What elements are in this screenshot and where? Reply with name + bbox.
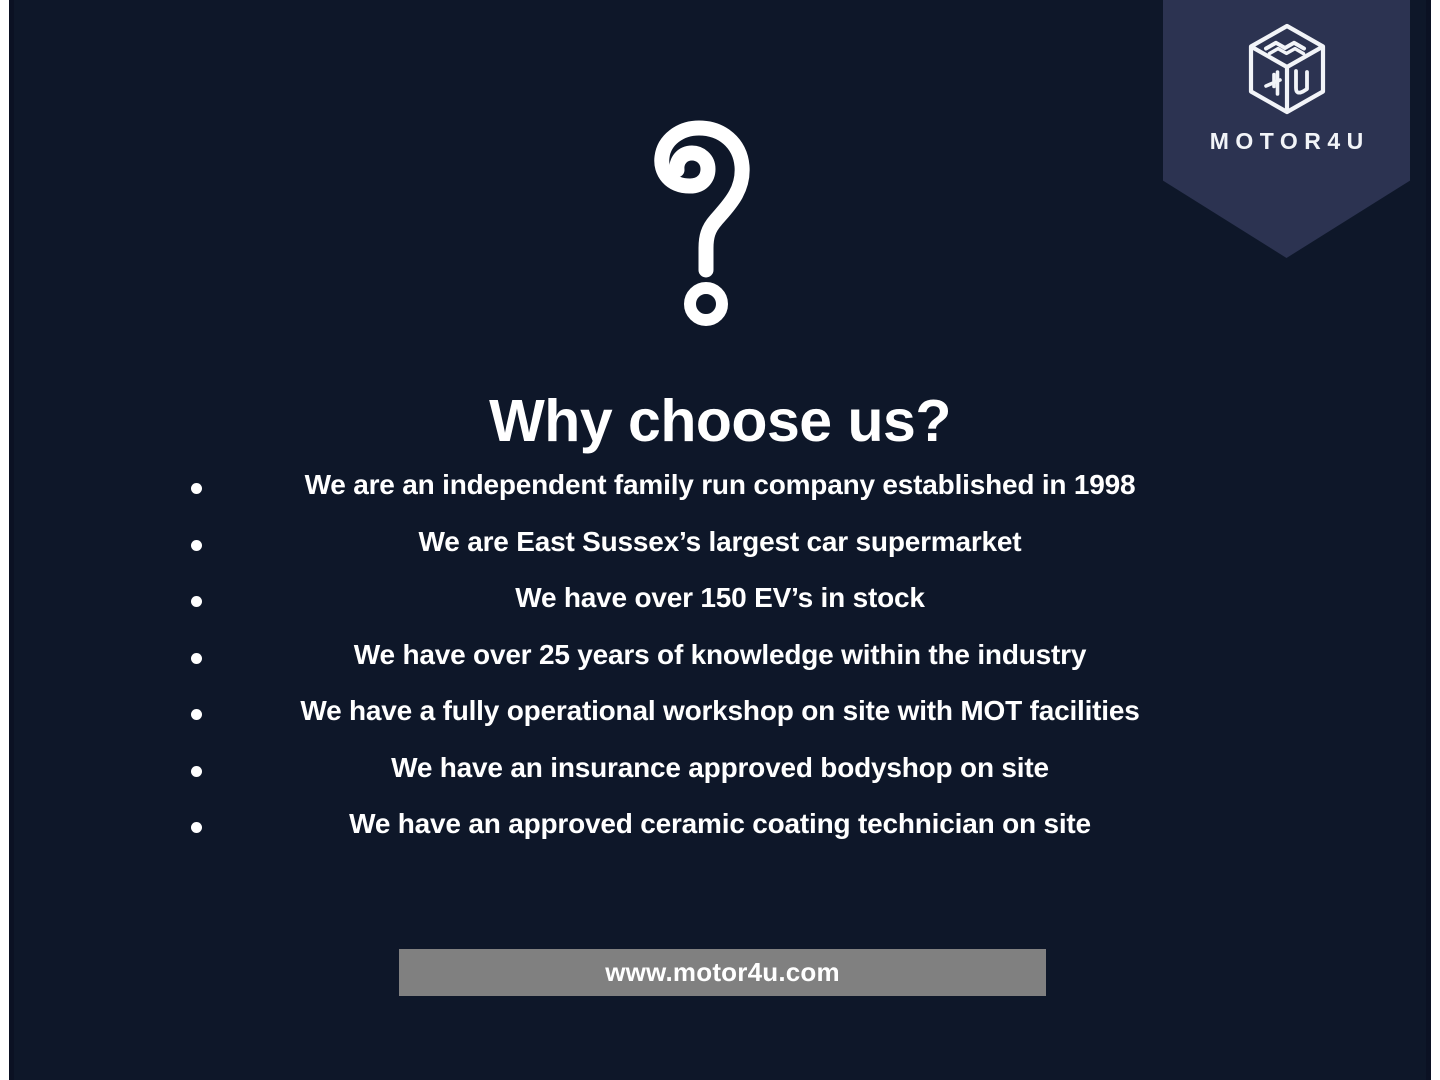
benefit-item-5: We have a fully operational workshop on … [9, 692, 1431, 749]
benefit-text: We are an independent family run company… [305, 466, 1136, 504]
page-title: Why choose us? [9, 392, 1431, 451]
bullet-icon [191, 822, 202, 833]
benefit-item-1: We are an independent family run company… [9, 466, 1431, 523]
question-mark-icon [9, 96, 1431, 340]
slide-root: MOTOR4U Why choose us? We are an indepen… [0, 0, 1440, 1080]
benefit-item-4: We have over 25 years of knowledge withi… [9, 636, 1431, 693]
benefit-item-6: We have an insurance approved bodyshop o… [9, 749, 1431, 806]
benefit-text: We have an insurance approved bodyshop o… [391, 749, 1049, 787]
benefit-text: We have over 25 years of knowledge withi… [354, 636, 1086, 674]
benefit-text: We have over 150 EV’s in stock [515, 579, 925, 617]
bullet-icon [191, 653, 202, 664]
benefit-item-3: We have over 150 EV’s in stock [9, 579, 1431, 636]
benefit-item-2: We are East Sussex’s largest car superma… [9, 523, 1431, 580]
website-url-text[interactable]: www.motor4u.com [605, 957, 840, 988]
bullet-icon [191, 540, 202, 551]
bullet-icon [191, 766, 202, 777]
slide-canvas: MOTOR4U Why choose us? We are an indepen… [9, 0, 1431, 1080]
bullet-icon [191, 483, 202, 494]
bullet-icon [191, 709, 202, 720]
benefit-item-7: We have an approved ceramic coating tech… [9, 805, 1431, 862]
website-url-bar[interactable]: www.motor4u.com [399, 949, 1046, 996]
benefit-text: We have an approved ceramic coating tech… [349, 805, 1091, 843]
benefits-list: We are an independent family run company… [9, 466, 1431, 862]
benefit-text: We have a fully operational workshop on … [300, 692, 1139, 730]
bullet-icon [191, 596, 202, 607]
benefit-text: We are East Sussex’s largest car superma… [419, 523, 1022, 561]
